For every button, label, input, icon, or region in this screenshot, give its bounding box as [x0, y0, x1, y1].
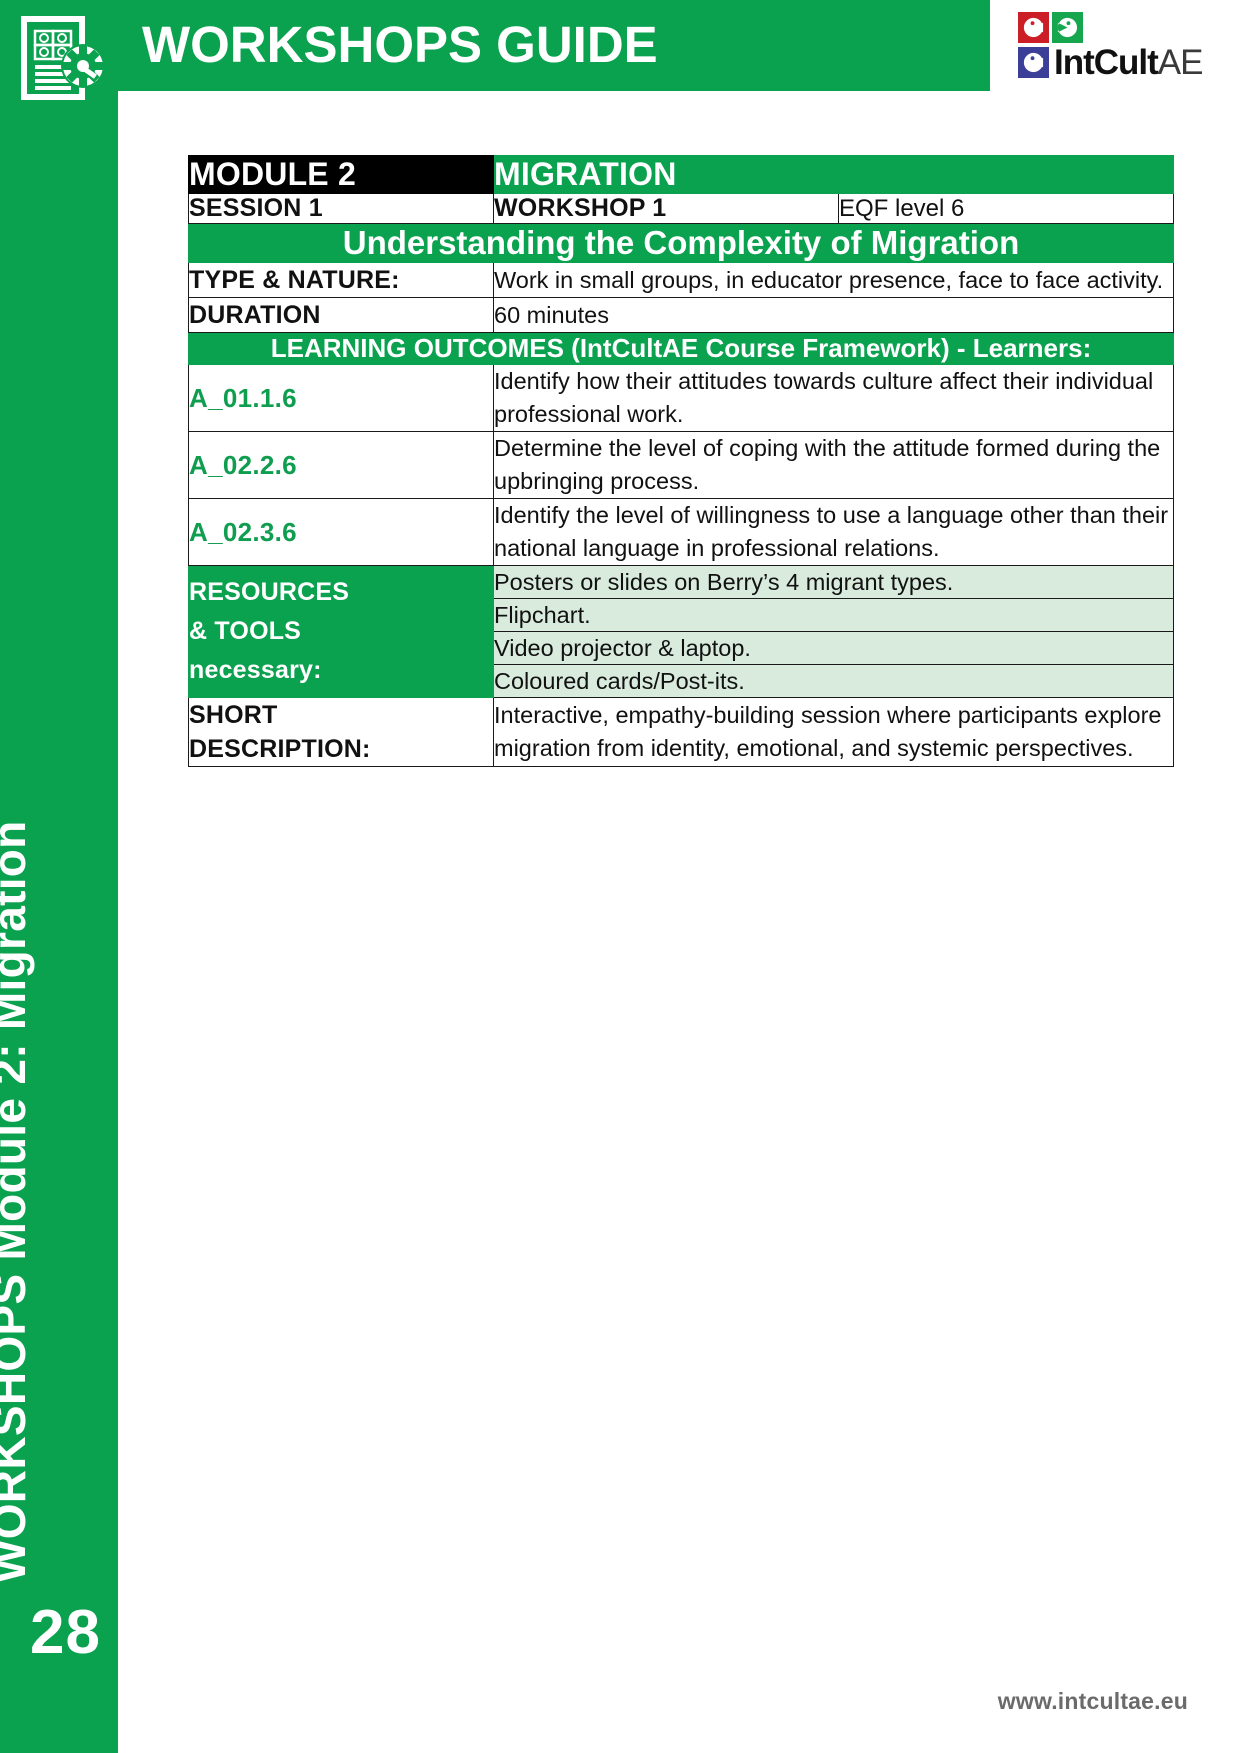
logo-square-green — [1052, 12, 1083, 43]
left-sidebar: WORKSHOPS Module 2: Migration 28 — [0, 0, 118, 1753]
resources-label-line1: RESOURCES — [189, 578, 349, 606]
logo-wordmark: IntCultAE — [1054, 45, 1203, 81]
logo-square-red — [1018, 12, 1049, 43]
type-nature-value: Work in small groups, in educator presen… — [494, 263, 1174, 298]
short-description-label-line2: DESCRIPTION: — [189, 735, 371, 763]
page-number: 28 — [30, 1597, 101, 1668]
workshop-label-cell: WORKSHOP 1 — [494, 194, 839, 224]
logo-word-bold: IntCult — [1054, 43, 1158, 82]
learning-outcome-text: Determine the level of coping with the a… — [494, 432, 1174, 499]
table-row-resource: RESOURCES& TOOLSnecessary: Posters or sl… — [189, 566, 1174, 599]
learning-outcome-code: A_02.2.6 — [189, 432, 494, 499]
page-title: WORKSHOPS GUIDE — [142, 14, 658, 76]
short-description-value: Interactive, empathy-building session wh… — [494, 698, 1174, 767]
document-gear-icon — [12, 14, 108, 100]
pac-face-icon — [1056, 16, 1079, 39]
sidebar-vertical-text-wrap: WORKSHOPS Module 2: Migration — [0, 0, 118, 1753]
resource-item: Posters or slides on Berry’s 4 migrant t… — [494, 566, 1174, 599]
short-description-label: SHORTDESCRIPTION: — [189, 698, 494, 767]
learning-outcomes-header: LEARNING OUTCOMES (IntCultAE Course Fram… — [189, 333, 1174, 365]
learning-outcome-code: A_02.3.6 — [189, 499, 494, 566]
resource-item: Coloured cards/Post-its. — [494, 665, 1174, 698]
footer-url[interactable]: www.intcultae.eu — [998, 1688, 1188, 1715]
module-label-cell: MODULE 2 — [189, 156, 494, 194]
pac-face-icon — [1022, 16, 1045, 39]
resource-item: Flipchart. — [494, 599, 1174, 632]
logo-square-blue — [1018, 47, 1049, 78]
learning-outcome-text: Identify the level of willingness to use… — [494, 499, 1174, 566]
workshop-title-cell: Understanding the Complexity of Migratio… — [189, 224, 1174, 263]
sidebar-vertical-label: WORKSHOPS Module 2: Migration — [0, 820, 36, 1583]
duration-value: 60 minutes — [494, 298, 1174, 333]
workshop-table: MODULE 2 MIGRATION SESSION 1 WORKSHOP 1 … — [188, 155, 1174, 767]
intcultae-logo: IntCultAE — [1018, 12, 1186, 84]
resource-item: Video projector & laptop. — [494, 632, 1174, 665]
resources-label-line3: necessary: — [189, 656, 322, 684]
logo-word-light: AE — [1158, 43, 1203, 82]
table-row-outcome: A_02.3.6 Identify the level of willingne… — [189, 499, 1174, 566]
duration-label: DURATION — [189, 298, 494, 333]
workshop-sheet: MODULE 2 MIGRATION SESSION 1 WORKSHOP 1 … — [188, 155, 1173, 767]
table-row-module: MODULE 2 MIGRATION — [189, 156, 1174, 194]
table-row-session: SESSION 1 WORKSHOP 1 EQF level 6 — [189, 194, 1174, 224]
pac-face-icon — [1022, 51, 1045, 74]
table-row-duration: DURATION 60 minutes — [189, 298, 1174, 333]
short-description-label-line1: SHORT — [189, 701, 278, 729]
table-row-outcome: A_02.2.6 Determine the level of coping w… — [189, 432, 1174, 499]
table-row-outcome: A_01.1.6 Identify how their attitudes to… — [189, 365, 1174, 432]
learning-outcome-code: A_01.1.6 — [189, 365, 494, 432]
learning-outcome-text: Identify how their attitudes towards cul… — [494, 365, 1174, 432]
table-row-title: Understanding the Complexity of Migratio… — [189, 224, 1174, 263]
table-row-learning-outcomes-header: LEARNING OUTCOMES (IntCultAE Course Fram… — [189, 333, 1174, 365]
resources-label-cell: RESOURCES& TOOLSnecessary: — [189, 566, 494, 698]
table-row-type-nature: TYPE & NATURE: Work in small groups, in … — [189, 263, 1174, 298]
resources-label-line2: & TOOLS — [189, 617, 301, 645]
module-title-cell: MIGRATION — [494, 156, 1174, 194]
logo-squares — [1018, 12, 1084, 44]
table-row-short-description: SHORTDESCRIPTION: Interactive, empathy-b… — [189, 698, 1174, 767]
eqf-level-cell: EQF level 6 — [839, 194, 1174, 224]
type-nature-label: TYPE & NATURE: — [189, 263, 494, 298]
session-label-cell: SESSION 1 — [189, 194, 494, 224]
